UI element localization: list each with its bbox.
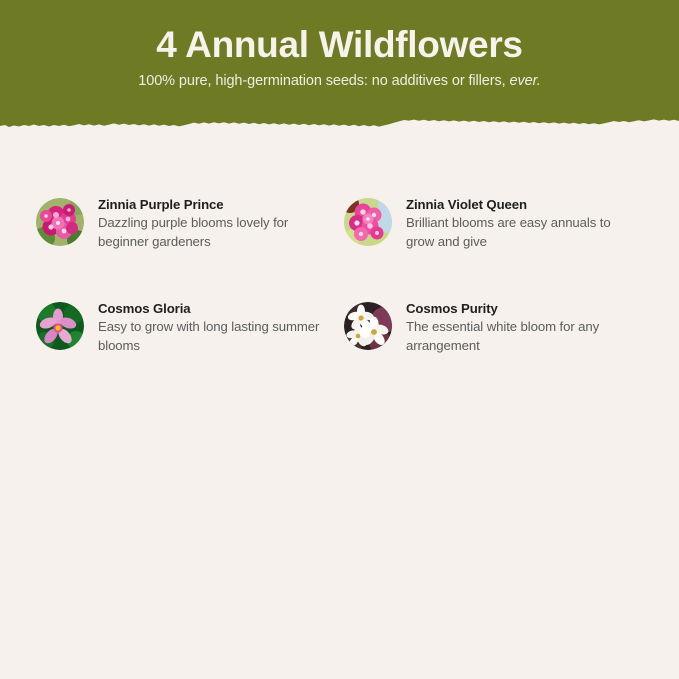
- zinnia-violet-queen-thumbnail: [344, 198, 392, 246]
- cosmos-purity-thumbnail: [344, 302, 392, 350]
- header-banner: 4 Annual Wildflowers 100% pure, high-ger…: [0, 0, 679, 138]
- product-text: Zinnia Violet Queen Brilliant blooms are…: [406, 196, 634, 252]
- product-name: Cosmos Gloria: [98, 300, 326, 317]
- page-title: 4 Annual Wildflowers: [0, 24, 679, 65]
- product-description: The essential white bloom for any arrang…: [406, 318, 634, 355]
- product-text: Zinnia Purple Prince Dazzling purple blo…: [98, 196, 326, 252]
- header-banner-content: 4 Annual Wildflowers 100% pure, high-ger…: [0, 0, 679, 91]
- product-list: Zinnia Purple Prince Dazzling purple blo…: [0, 196, 679, 356]
- product-description: Brilliant blooms are easy annuals to gro…: [406, 214, 634, 251]
- list-item[interactable]: Zinnia Violet Queen Brilliant blooms are…: [344, 196, 652, 252]
- product-name: Zinnia Purple Prince: [98, 196, 326, 213]
- page-subtitle-main: 100% pure, high-germination seeds: no ad…: [138, 73, 505, 89]
- zinnia-purple-prince-thumbnail: [36, 198, 84, 246]
- flower-image-icon: [344, 198, 392, 246]
- flower-image-icon: [36, 198, 84, 246]
- product-description: Easy to grow with long lasting summer bl…: [98, 318, 326, 355]
- list-item[interactable]: Zinnia Purple Prince Dazzling purple blo…: [36, 196, 344, 252]
- page-subtitle: 100% pure, high-germination seeds: no ad…: [0, 73, 679, 90]
- torn-paper-edge-icon: [0, 113, 679, 138]
- cosmos-gloria-thumbnail: [36, 302, 84, 350]
- product-description: Dazzling purple blooms lovely for beginn…: [98, 214, 326, 251]
- flower-image-icon: [36, 302, 84, 350]
- list-item[interactable]: Cosmos Purity The essential white bloom …: [344, 300, 652, 356]
- product-name: Zinnia Violet Queen: [406, 196, 634, 213]
- product-name: Cosmos Purity: [406, 300, 634, 317]
- list-item[interactable]: Cosmos Gloria Easy to grow with long las…: [36, 300, 344, 356]
- product-text: Cosmos Purity The essential white bloom …: [406, 300, 634, 356]
- flower-image-icon: [344, 302, 392, 350]
- page-subtitle-emphasis: ever.: [510, 73, 541, 89]
- product-text: Cosmos Gloria Easy to grow with long las…: [98, 300, 326, 356]
